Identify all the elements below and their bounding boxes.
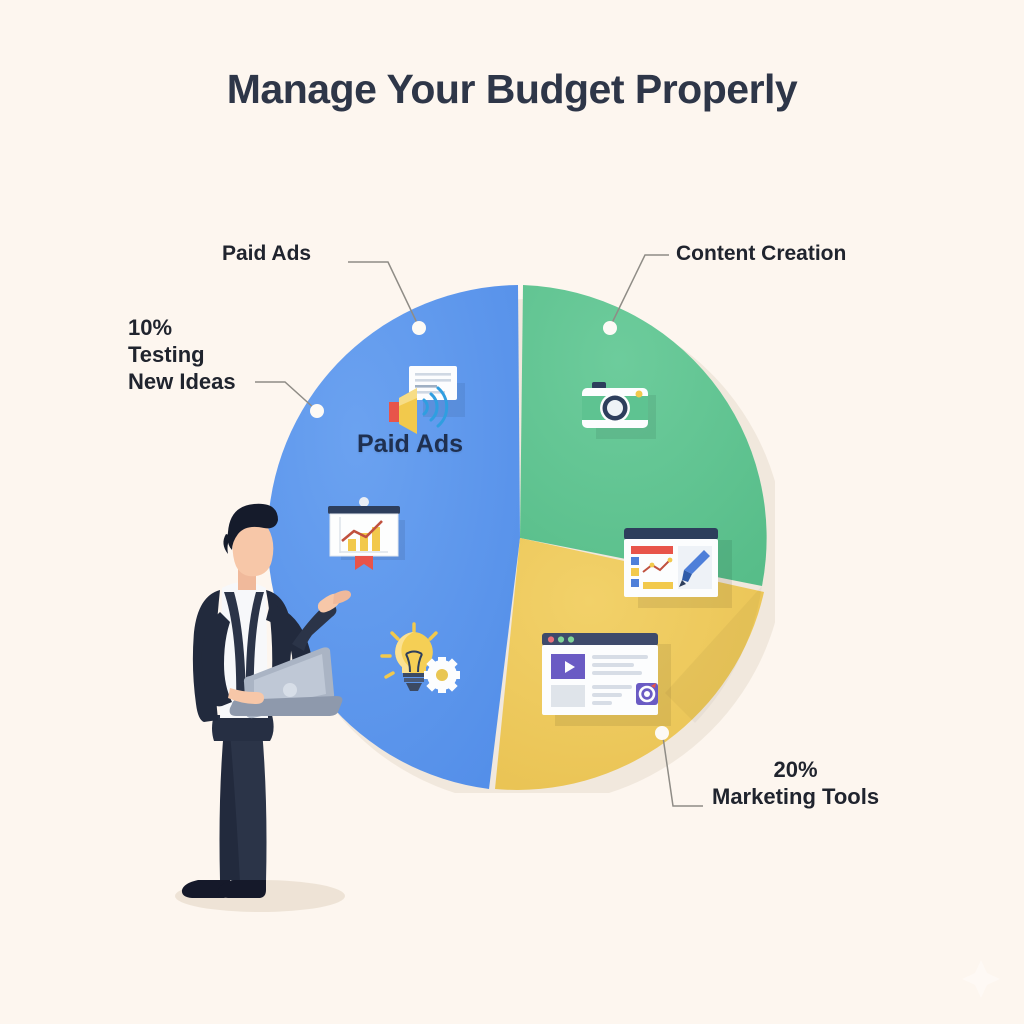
infographic-canvas: Manage Your Budget Properly	[0, 0, 1024, 1024]
megaphone-announcement-icon	[383, 362, 465, 440]
callout-text-content-creation: Content Creation	[676, 242, 846, 265]
watermark-diamond-icon	[958, 956, 1004, 1002]
callout-text-testing-line1: Testing	[128, 342, 236, 369]
callout-label-marketing-tools: 20% Marketing Tools	[712, 757, 879, 811]
callout-percent-marketing-tools: 20%	[712, 757, 879, 784]
media-browser-window-icon	[538, 625, 672, 729]
camera-icon	[580, 372, 664, 446]
callout-text-testing-line2: New Ideas	[128, 369, 236, 396]
callout-text-paid-ads: Paid Ads	[222, 242, 311, 265]
callout-percent-testing-new-ideas: 10%	[128, 315, 236, 342]
page-title: Manage Your Budget Properly	[0, 66, 1024, 113]
callout-label-content-creation: Content Creation	[676, 241, 846, 267]
callout-label-paid-ads: Paid Ads	[222, 241, 311, 267]
design-editor-window-icon	[620, 520, 732, 614]
callout-text-marketing-tools: Marketing Tools	[712, 784, 879, 811]
lightbulb-gear-icon	[372, 620, 464, 702]
callout-label-testing-new-ideas: 10% Testing New Ideas	[128, 315, 236, 395]
businessman-with-laptop-illustration	[150, 500, 380, 920]
